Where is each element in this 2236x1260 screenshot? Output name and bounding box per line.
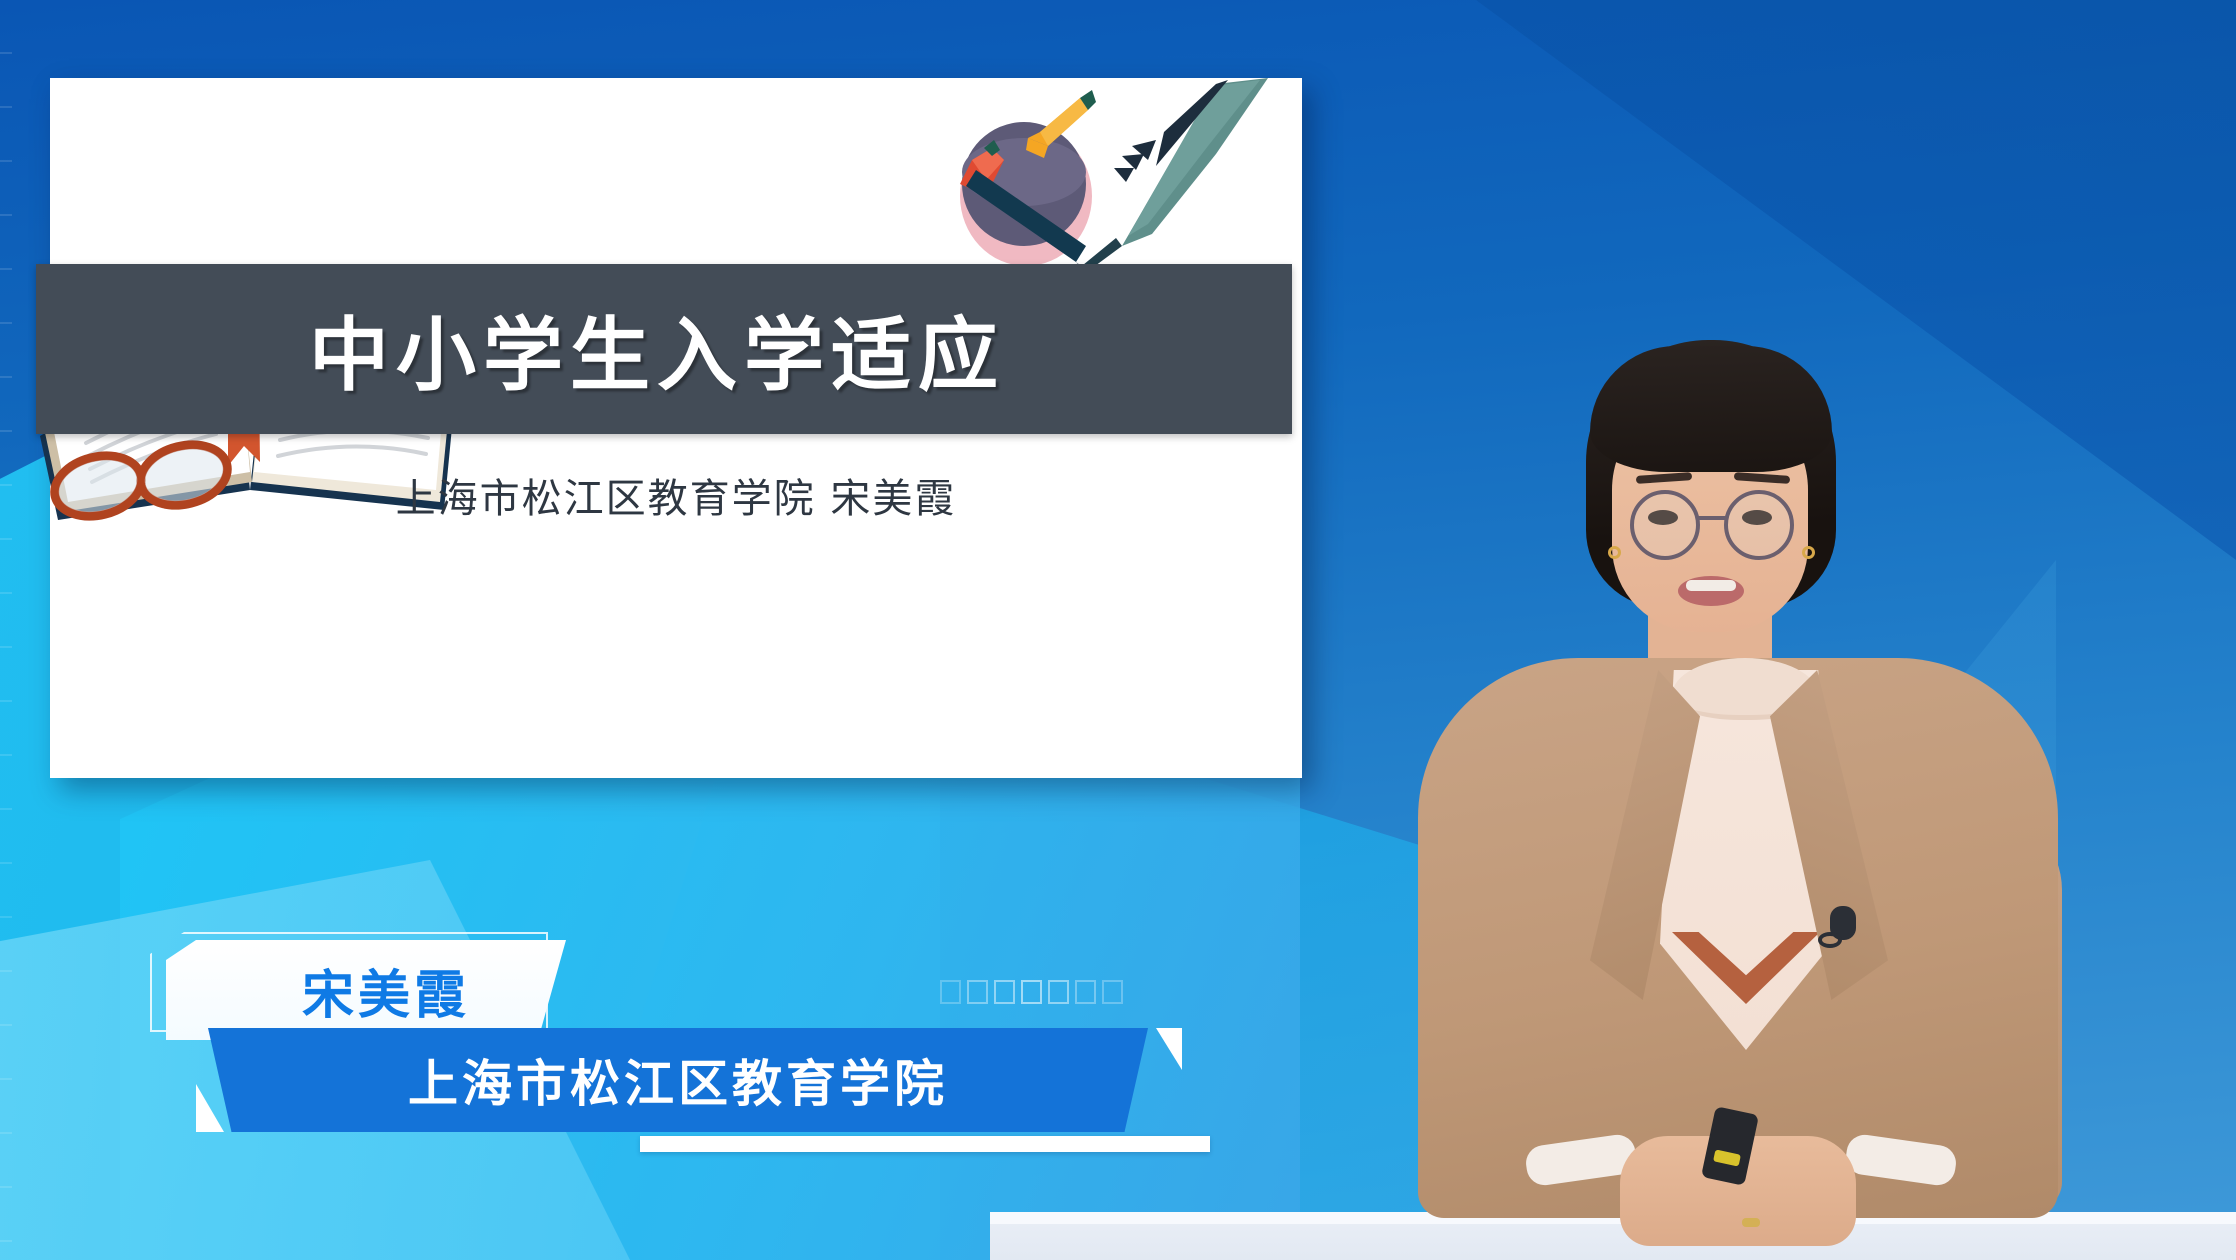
tofu-box-icon bbox=[940, 980, 961, 1004]
eyeglasses-left-lens-icon bbox=[1630, 490, 1700, 560]
lower-third-banner: 宋美霞 上海市松江区教育学院 bbox=[150, 932, 1210, 1162]
tofu-box-icon bbox=[1075, 980, 1096, 1004]
wedding-ring-icon bbox=[1742, 1218, 1760, 1227]
eyeglasses-bridge-icon bbox=[1698, 516, 1728, 520]
slide-title-band: 中小学生入学适应 bbox=[36, 264, 1292, 434]
tofu-box-icon bbox=[967, 980, 988, 1004]
video-frame: 中小学生入学适应 上海市松江区教育学院 宋美霞 宋美霞 上海市松江区教育学院 bbox=[0, 0, 2236, 1260]
background-edge-hairlines bbox=[0, 0, 12, 1260]
org-bar-notch-top-right bbox=[1156, 1028, 1182, 1070]
missing-glyph-row bbox=[940, 980, 1123, 1004]
left-earring-icon bbox=[1608, 546, 1621, 559]
organization-name: 上海市松江区教育学院 bbox=[408, 1044, 948, 1116]
tofu-box-icon bbox=[1102, 980, 1123, 1004]
presenter-video bbox=[1290, 340, 2190, 1260]
presenter-bangs bbox=[1590, 346, 1832, 472]
tofu-box-icon bbox=[1048, 980, 1069, 1004]
tofu-box-icon bbox=[994, 980, 1015, 1004]
eyeglasses-right-lens-icon bbox=[1724, 490, 1794, 560]
slide-subtitle: 上海市松江区教育学院 宋美霞 bbox=[50, 466, 1302, 524]
presenter-name: 宋美霞 bbox=[302, 953, 470, 1028]
lower-third-accent-bar bbox=[640, 1136, 1210, 1152]
presenter-name-plate: 宋美霞 bbox=[166, 940, 566, 1040]
presentation-slide[interactable]: 中小学生入学适应 上海市松江区教育学院 宋美霞 bbox=[50, 78, 1302, 778]
microphone-clip-icon bbox=[1818, 932, 1842, 948]
right-earring-icon bbox=[1802, 546, 1815, 559]
organization-bar: 上海市松江区教育学院 bbox=[208, 1028, 1148, 1132]
slide-title: 中小学生入学适应 bbox=[36, 264, 1278, 434]
org-bar-notch-bottom-left bbox=[196, 1084, 224, 1132]
tofu-box-icon bbox=[1021, 980, 1042, 1004]
quill-feather-icon bbox=[1066, 78, 1268, 288]
presenter-teeth bbox=[1686, 580, 1736, 591]
